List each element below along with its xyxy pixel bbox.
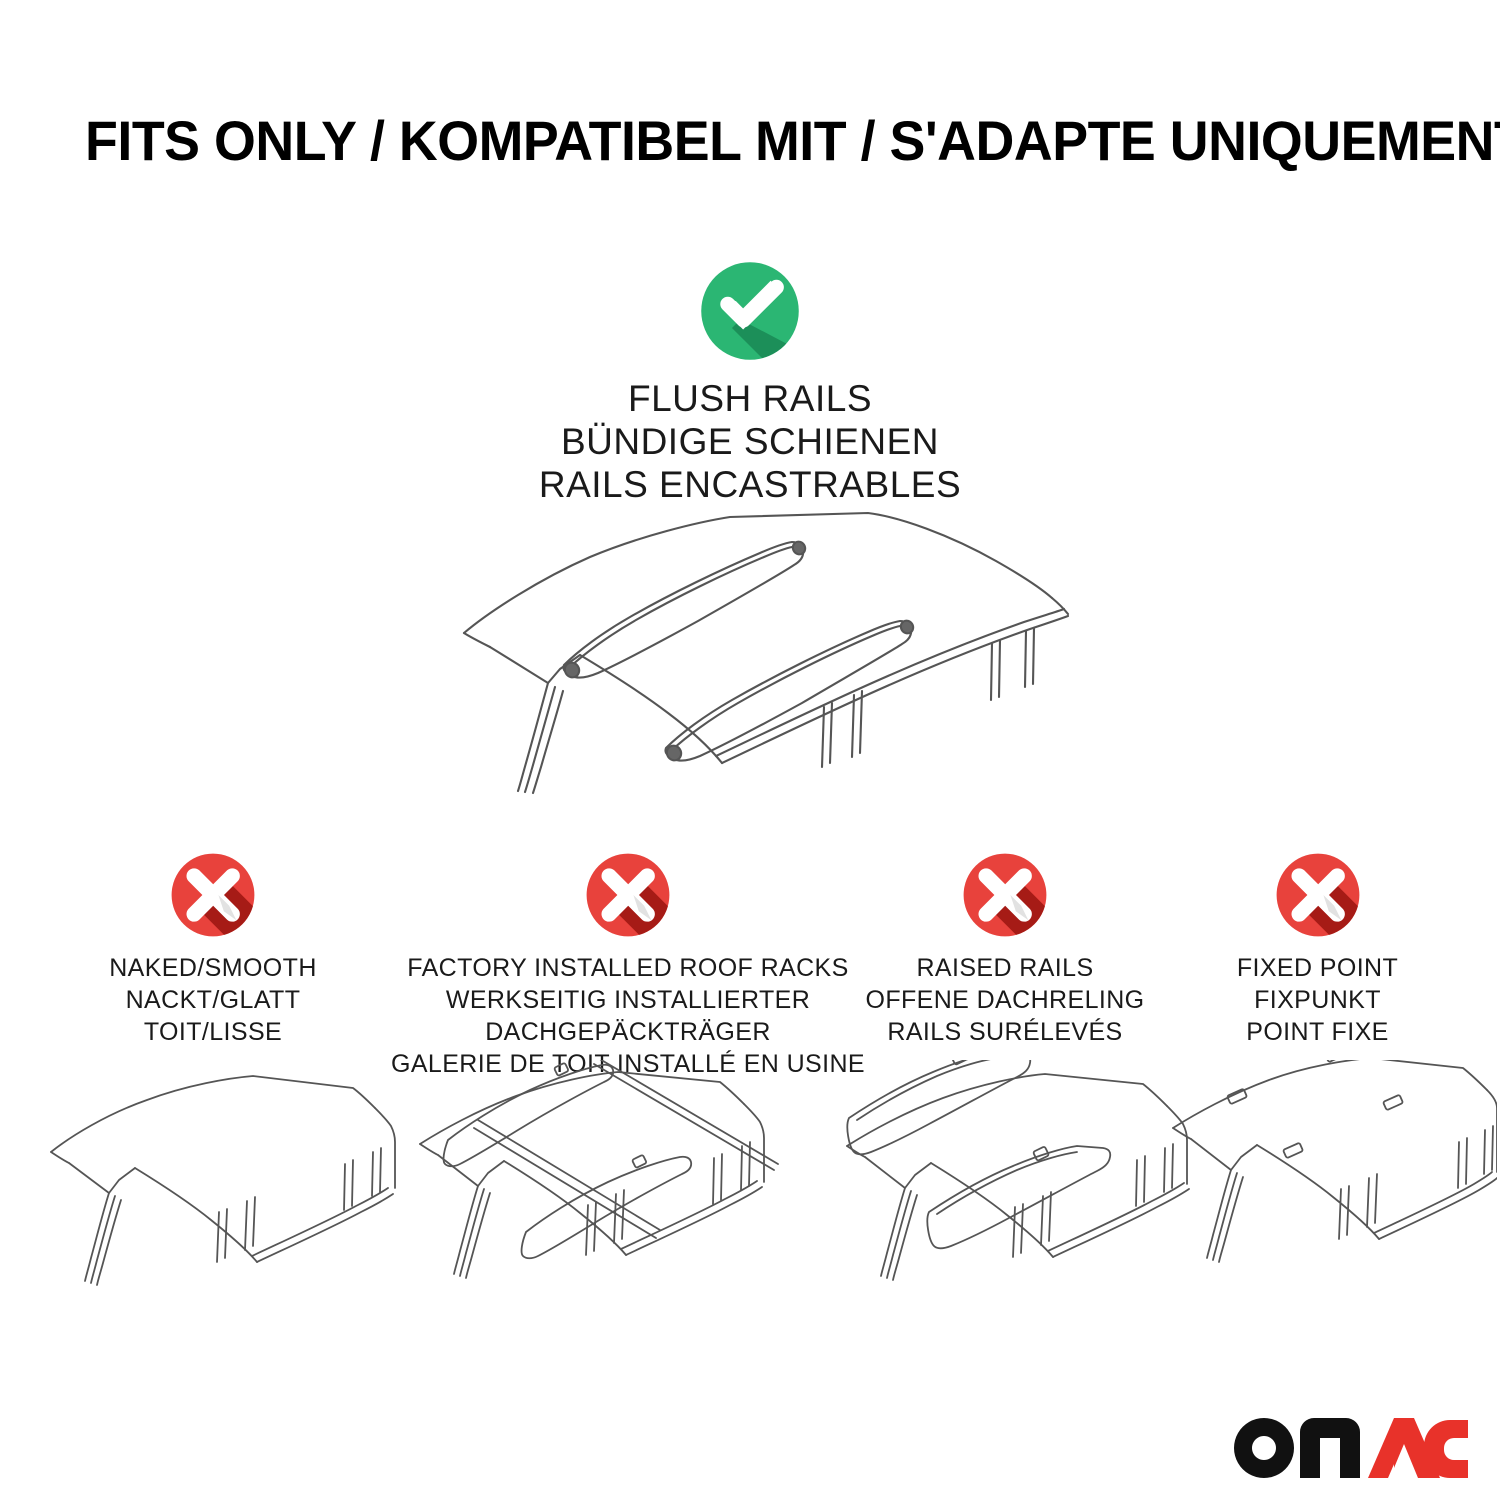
incompatible-label-en: FIXED POINT (1237, 952, 1398, 984)
logo-letter-c (1424, 1420, 1468, 1478)
incompatible-row: NAKED/SMOOTH NACKT/GLATT TOIT/LISSE (0, 850, 1500, 1470)
incompatible-item-fixed-point: FIXED POINT FIXPUNKT POINT FIXE (1185, 850, 1450, 1048)
car-roof-factory-roof-racks-illustration (408, 1060, 788, 1290)
incompatible-label-en: NAKED/SMOOTH (109, 952, 317, 984)
incompatible-label-de-1: WERKSEITIG INSTALLIERTER (391, 984, 865, 1016)
incompatible-labels: NAKED/SMOOTH NACKT/GLATT TOIT/LISSE (109, 952, 317, 1048)
incompatible-item-raised-rails: RAISED RAILS OFFENE DACHRELING RAILS SUR… (845, 850, 1165, 1048)
logo-letter-o (1234, 1418, 1294, 1478)
check-circle-icon (697, 258, 803, 364)
incompatible-label-de: FIXPUNKT (1237, 984, 1398, 1016)
cross-circle-icon (960, 850, 1050, 940)
car-roof-naked-smooth-illustration (43, 1060, 403, 1290)
page-title: FITS ONLY / KOMPATIBEL MIT / S'ADAPTE UN… (85, 108, 1371, 173)
compatible-label-de: BÜNDIGE SCHIENEN (539, 421, 961, 464)
fitment-infographic: FITS ONLY / KOMPATIBEL MIT / S'ADAPTE UN… (0, 0, 1500, 1500)
omac-logo (1228, 1412, 1468, 1484)
compatible-labels: FLUSH RAILS BÜNDIGE SCHIENEN RAILS ENCAS… (539, 378, 961, 507)
cross-circle-icon (583, 850, 673, 940)
incompatible-label-fr: POINT FIXE (1237, 1016, 1398, 1048)
incompatible-labels: RAISED RAILS OFFENE DACHRELING RAILS SUR… (865, 952, 1144, 1048)
car-roof-fixed-point-illustration (1167, 1060, 1497, 1290)
car-roof-raised-rails-illustration (833, 1060, 1203, 1290)
incompatible-label-de-2: DACHGEPÄCKTRÄGER (391, 1016, 865, 1048)
incompatible-label-de: NACKT/GLATT (109, 984, 317, 1016)
cross-circle-icon (168, 850, 258, 940)
incompatible-label-fr: RAILS SURÉLEVÉS (865, 1016, 1144, 1048)
car-roof-flush-rails-illustration (430, 495, 1070, 795)
compatible-block: FLUSH RAILS BÜNDIGE SCHIENEN RAILS ENCAS… (0, 258, 1500, 507)
incompatible-item-naked-smooth: NAKED/SMOOTH NACKT/GLATT TOIT/LISSE (53, 850, 373, 1048)
cross-circle-icon (1273, 850, 1363, 940)
logo-letter-m (1300, 1418, 1360, 1478)
incompatible-label-de: OFFENE DACHRELING (865, 984, 1144, 1016)
incompatible-label-en: RAISED RAILS (865, 952, 1144, 984)
compatible-label-en: FLUSH RAILS (539, 378, 961, 421)
incompatible-label-fr: TOIT/LISSE (109, 1016, 317, 1048)
incompatible-labels: FIXED POINT FIXPUNKT POINT FIXE (1237, 952, 1398, 1048)
incompatible-label-en: FACTORY INSTALLED ROOF RACKS (391, 952, 865, 984)
incompatible-item-factory-roof-racks: FACTORY INSTALLED ROOF RACKS WERKSEITIG … (398, 850, 858, 1080)
